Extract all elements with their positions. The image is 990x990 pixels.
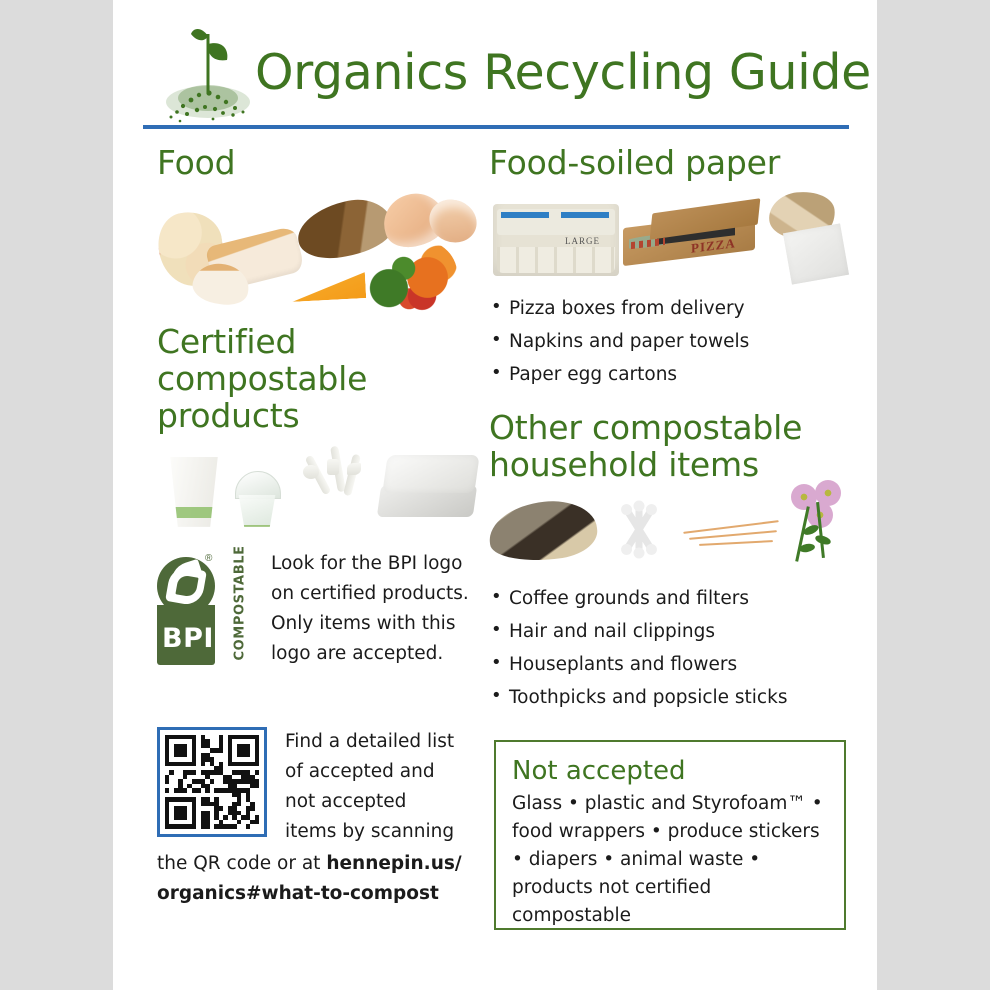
dome-cup-image	[231, 471, 283, 527]
list-item: Houseplants and flowers	[489, 654, 865, 675]
compostable-products-photo	[157, 449, 487, 535]
egg-carton-image: LARGE	[493, 204, 619, 276]
qr-line: not accepted	[285, 787, 454, 817]
compostable-cutlery-image	[297, 459, 371, 537]
section-heading-certified: Certified compostable products	[157, 324, 487, 435]
qr-url-tail: the QR code or at hennepin.us/ organics#…	[157, 849, 487, 909]
bpi-line: logo are accepted.	[271, 639, 469, 669]
bpi-line: on certified products.	[271, 579, 469, 609]
qr-line: of accepted and	[285, 757, 454, 787]
sprout-icon	[153, 22, 263, 126]
qr-line: Find a detailed list	[285, 727, 454, 757]
qr-url-line2[interactable]: organics#what-to-compost	[157, 883, 439, 904]
section-heading-other-household: Other compostable household items	[489, 410, 865, 484]
pizza-box-image: PIZZA	[623, 204, 761, 266]
qr-description: Find a detailed list of accepted and not…	[285, 727, 454, 847]
poster-page: Organics Recycling Guide Food Certified …	[113, 0, 877, 990]
cotton-swabs-image	[611, 500, 673, 562]
clamshell-container-image	[379, 453, 483, 525]
list-item: Hair and nail clippings	[489, 621, 865, 642]
bpi-mark-text: BPI	[162, 623, 214, 654]
qr-url-line1[interactable]: hennepin.us/	[326, 853, 461, 874]
section-heading-food: Food	[157, 145, 487, 182]
vegetable-scraps-image	[365, 238, 457, 314]
left-column: Food Certified compostable products	[157, 145, 487, 909]
page-title: Organics Recycling Guide	[255, 44, 871, 101]
toothpicks-image	[683, 512, 787, 548]
not-accepted-heading: Not accepted	[512, 756, 828, 786]
egg-carton-label: LARGE	[565, 236, 600, 246]
bpi-logo-block: ® BPI COMPOSTABLE Look for the BPI logo …	[157, 549, 487, 669]
list-item: Paper egg cartons	[489, 364, 865, 385]
bpi-description: Look for the BPI logo on certified produ…	[271, 549, 469, 669]
bpi-line: Only items with this	[271, 609, 469, 639]
qr-code[interactable]	[157, 727, 267, 837]
qr-module	[255, 824, 259, 828]
food-soiled-paper-photo: LARGE PIZZA	[489, 192, 865, 284]
qr-line: items by scanning	[285, 817, 454, 847]
list-item: Pizza boxes from delivery	[489, 298, 865, 319]
bpi-logo-icon: ® BPI	[157, 549, 219, 667]
list-item: Toothpicks and popsicle sticks	[489, 687, 865, 708]
list-item: Napkins and paper towels	[489, 331, 865, 352]
food-photo	[157, 188, 487, 310]
list-item: Coffee grounds and filters	[489, 588, 865, 609]
header-divider	[143, 125, 849, 129]
cup-band	[173, 507, 215, 518]
paper-cup-image	[167, 457, 221, 527]
qr-tail-prefix: the QR code or at	[157, 853, 326, 874]
coffee-filter-image	[486, 496, 599, 565]
not-accepted-body: Glass • plastic and Styrofoam™ • food wr…	[512, 790, 828, 931]
poster-header: Organics Recycling Guide	[143, 18, 849, 130]
flowers-image	[785, 480, 859, 566]
bpi-line: Look for the BPI logo	[271, 549, 469, 579]
food-soiled-paper-bullets: Pizza boxes from delivery Napkins and pa…	[489, 298, 865, 386]
not-accepted-box: Not accepted Glass • plastic and Styrofo…	[494, 740, 846, 930]
bpi-compostable-vertical-text: COMPOSTABLE	[227, 549, 247, 667]
other-household-bullets: Coffee grounds and filters Hair and nail…	[489, 588, 865, 709]
registered-mark-icon: ®	[205, 553, 212, 564]
section-heading-food-soiled-paper: Food-soiled paper	[489, 145, 865, 182]
qr-block: Find a detailed list of accepted and not…	[157, 727, 487, 847]
right-column: Food-soiled paper LARGE PIZZA Pizza boxe…	[489, 145, 865, 721]
other-household-photo	[489, 488, 865, 574]
napkin-image	[783, 223, 849, 284]
